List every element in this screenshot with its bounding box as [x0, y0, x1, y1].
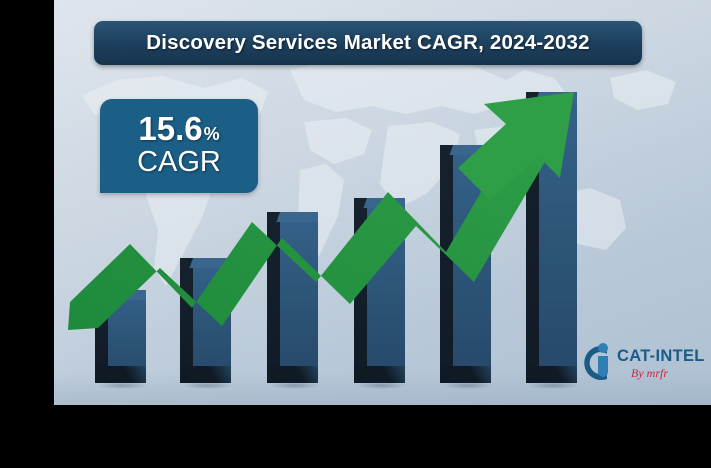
infographic-canvas: Discovery Services Market CAGR, 2024-203… [54, 0, 711, 405]
logo-byline: By mrfr [631, 366, 668, 381]
percent-symbol: % [204, 125, 220, 143]
cagr-badge: 15.6 % CAGR [100, 99, 258, 193]
cagr-value-row: 15.6 % [138, 112, 219, 145]
page-title: Discovery Services Market CAGR, 2024-203… [146, 31, 590, 55]
infographic-root: Discovery Services Market CAGR, 2024-203… [0, 0, 711, 468]
brand-logo: CAT-INTEL By mrfr [573, 333, 705, 391]
c-person-icon [573, 339, 619, 387]
title-bar: Discovery Services Market CAGR, 2024-203… [94, 21, 642, 65]
logo-wordmark: CAT-INTEL [617, 347, 705, 366]
cagr-value: 15.6 [138, 112, 202, 145]
cagr-label: CAGR [137, 145, 221, 179]
